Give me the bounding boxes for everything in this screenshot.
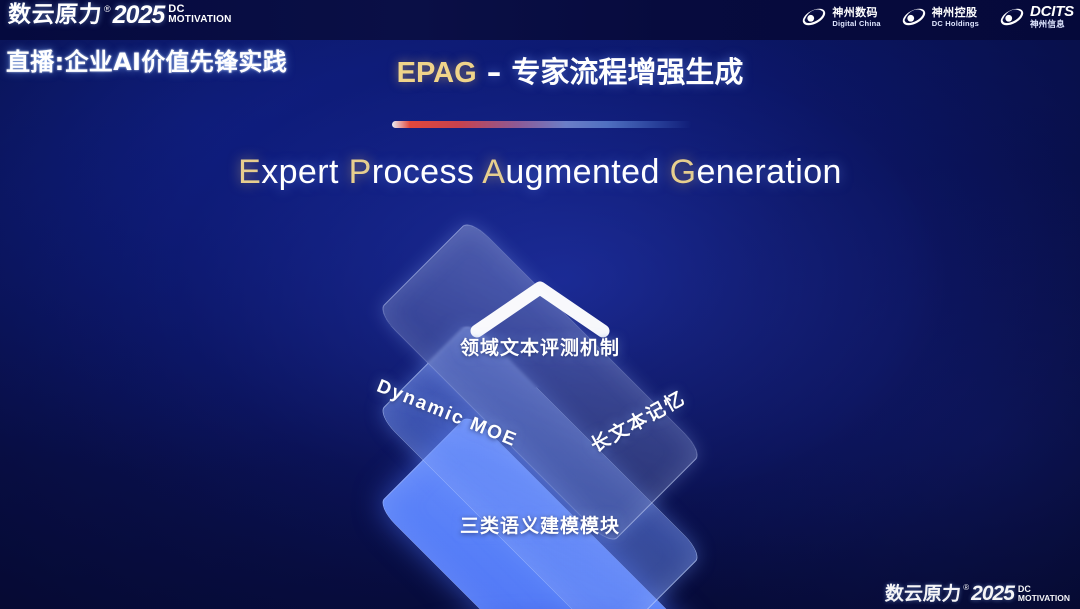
title-cn: 专家流程增强生成 — [511, 55, 743, 89]
subtitle: Expert Process Augmented Generation — [0, 150, 1080, 194]
partner-logo-text: 神州控股 DC Holdings — [932, 7, 979, 28]
swirl-logo-icon — [901, 4, 927, 30]
partner-logo-text: DCITS 神州信息 — [1030, 4, 1074, 30]
watermark-motivation-label: MOTIVATION — [1018, 593, 1070, 603]
partner-name-cn: 神州控股 — [932, 7, 979, 18]
title-dash: – — [477, 55, 512, 89]
partner-name-en: DC Holdings — [932, 20, 979, 28]
brand-registered-mark: ® — [104, 3, 111, 15]
bottom-layer-glow — [310, 587, 770, 609]
title-acronym: EPAG — [397, 57, 477, 89]
subtitle-cap-e: E — [238, 153, 261, 191]
subtitle-rest-generation: eneration — [696, 153, 841, 191]
partner-logo-dcits: DCITS 神州信息 — [999, 4, 1074, 30]
partner-logo-group: 神州数码 Digital China 神州控股 DC Holdings — [801, 4, 1074, 30]
partner-logo-text: 神州数码 Digital China — [832, 7, 880, 28]
swirl-logo-icon — [801, 4, 827, 30]
partner-name-cn: 神州数码 — [832, 7, 880, 18]
watermark-name-cn: 数云原力 — [885, 583, 962, 605]
brand-name-cn: 数云原力 — [7, 2, 102, 28]
live-session-label: 直播:企业AI价值先锋实践 — [6, 47, 287, 77]
brand-dc-motivation: DC MOTIVATION — [168, 4, 231, 25]
layered-architecture-diagram: 领域文本评测机制 Dynamic MOE 长文本记忆 三类语义建模模块 — [220, 215, 860, 585]
subtitle-rest-expert: xpert — [261, 153, 348, 191]
partner-logo-dc-holdings: 神州控股 DC Holdings — [901, 4, 979, 30]
brand-year: 2025 — [113, 2, 165, 28]
layer-label-bottom: 三类语义建模模块 — [460, 511, 620, 538]
partner-name-en: 神州信息 — [1030, 21, 1074, 30]
footer-watermark: 数云原力 ® 2025 DC MOTIVATION — [885, 583, 1070, 605]
partner-name-en: Digital China — [832, 20, 880, 28]
brand-motivation-label: MOTIVATION — [168, 14, 231, 25]
brand-lockup: 数云原力 ® 2025 DC MOTIVATION — [8, 2, 232, 28]
title-divider — [392, 121, 692, 128]
swirl-logo-icon — [999, 4, 1025, 30]
watermark-dc-motivation: DC MOTIVATION — [1018, 585, 1070, 603]
subtitle-cap-g: G — [670, 153, 697, 191]
watermark-registered-mark: ® — [963, 583, 969, 593]
subtitle-cap-a: A — [482, 153, 505, 191]
slide-canvas: 数云原力 ® 2025 DC MOTIVATION 直播:企业AI价值先锋实践 … — [0, 0, 1080, 609]
subtitle-rest-augmented: ugmented — [505, 153, 669, 191]
layer-label-top: 领域文本评测机制 — [460, 333, 620, 360]
watermark-year: 2025 — [971, 583, 1014, 605]
partner-logo-digital-china: 神州数码 Digital China — [801, 4, 880, 30]
watermark-dc-label: DC — [1018, 585, 1070, 593]
brand-dc-label: DC — [168, 4, 231, 14]
subtitle-cap-p: P — [349, 153, 372, 191]
subtitle-rest-process: rocess — [372, 153, 483, 191]
partner-name-cn: DCITS — [1030, 4, 1074, 19]
